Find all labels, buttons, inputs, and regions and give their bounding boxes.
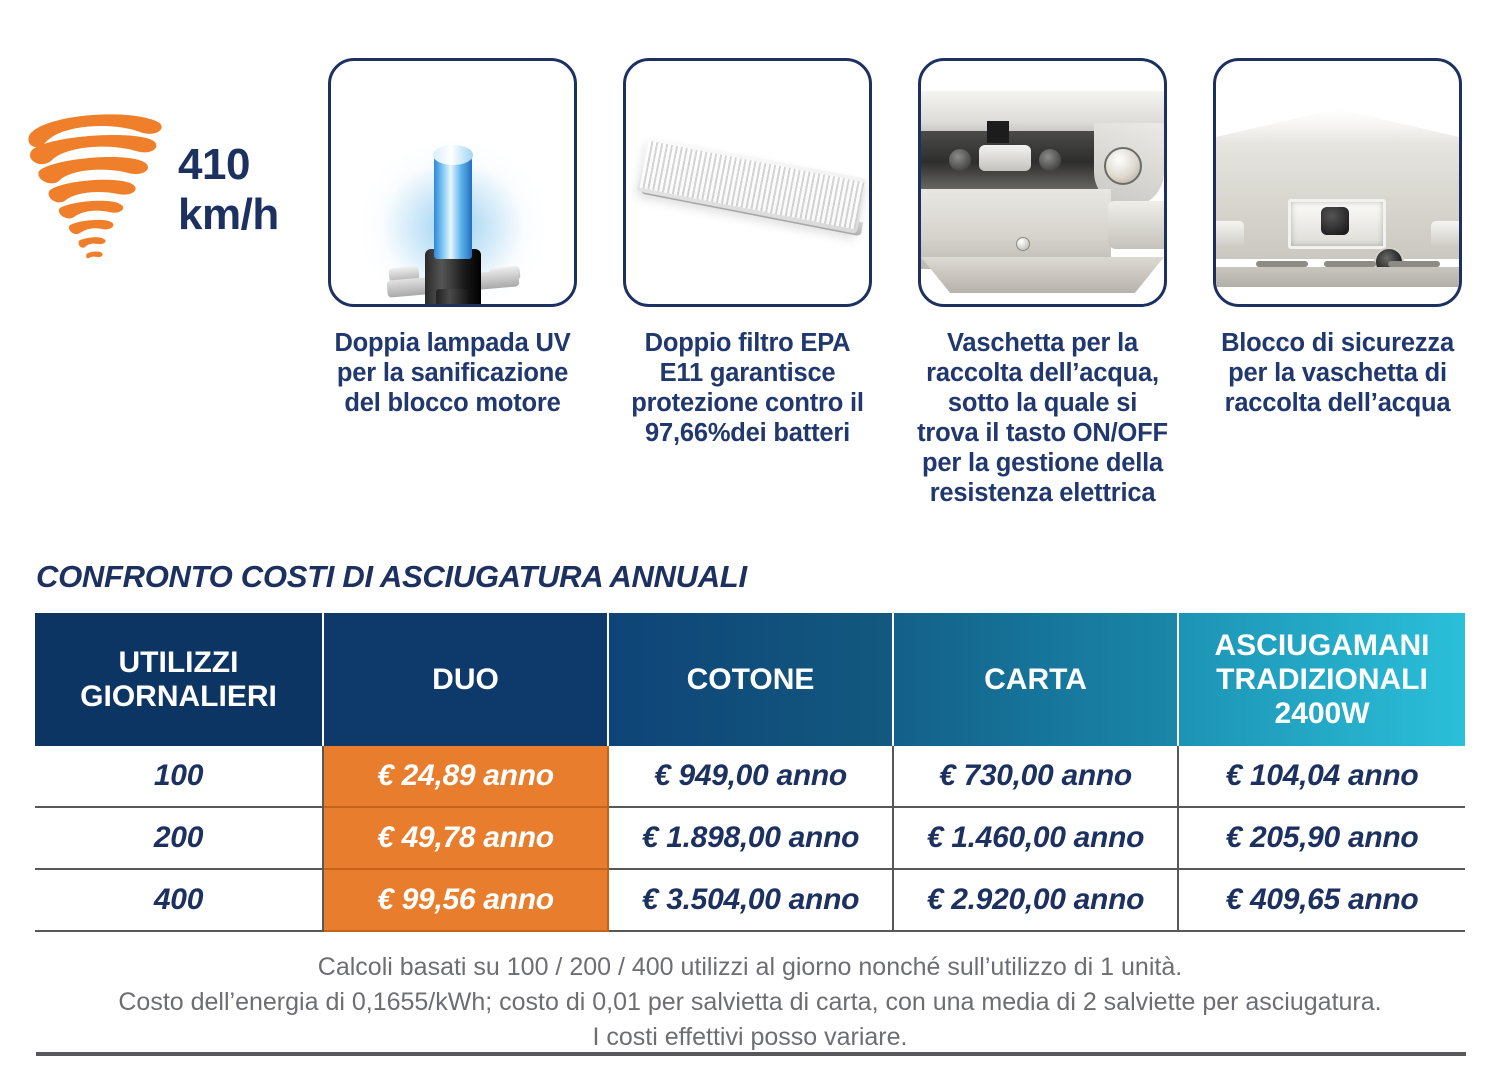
caption-line: resistenza elettrica: [930, 479, 1156, 507]
tornado-icon: [18, 108, 168, 260]
machine-shell-highlight: [1216, 109, 1459, 143]
table-title: CONFRONTO COSTI DI ASCIUGATURA ANNUALI: [36, 559, 747, 595]
machine-bottom-shell: [921, 257, 1164, 293]
uv-lamp-base-lower: [436, 289, 470, 307]
bottom-divider: [36, 1052, 1466, 1056]
column-header-duo: DUO: [323, 613, 608, 746]
footnote-line: I costi effettivi posso variare.: [35, 1020, 1465, 1055]
header-line: DUO: [432, 663, 499, 696]
cell-cotone-cost: € 1.898,00 anno: [608, 807, 893, 869]
cell-duo-cost: € 24,89 anno: [323, 746, 608, 807]
table-footnote: Calcoli basati su 100 / 200 / 400 utiliz…: [35, 950, 1465, 1055]
filter-body: [637, 136, 868, 234]
header-line: TRADIZIONALI: [1216, 663, 1428, 696]
cell-cotone-cost: € 949,00 anno: [608, 746, 893, 807]
machine-bolt-right: [1039, 149, 1061, 171]
caption-line: raccolta dell’acqua,: [926, 359, 1159, 387]
tray-clip: [1016, 237, 1030, 251]
machine-slot-right: [1431, 221, 1461, 247]
feature-caption-water-tray: Vaschetta per la raccolta dell’acqua, so…: [908, 328, 1178, 508]
uv-lamp-photo: [328, 58, 577, 307]
feature-card-list: Doppia lampada UV per la sanificazione d…: [305, 58, 1485, 508]
column-header-carta: CARTA: [893, 613, 1178, 746]
table-row: 200 € 49,78 anno € 1.898,00 anno € 1.460…: [35, 807, 1465, 869]
footnote-line: Costo dell’energia di 0,1655/kWh; costo …: [35, 985, 1465, 1020]
filter-pleats: [639, 140, 864, 229]
column-header-asciugamani-tradizionali: ASCIUGAMANI TRADIZIONALI 2400W: [1178, 613, 1465, 746]
cell-tradizionali-cost: € 409,65 anno: [1178, 869, 1465, 931]
header-line: COTONE: [687, 663, 815, 696]
caption-line: per la sanificazione: [337, 359, 568, 387]
machine-right-tab: [1108, 201, 1164, 249]
table-header-row: UTILIZZI GIORNALIERI DUO COTONE CARTA AS…: [35, 613, 1465, 746]
caption-line: raccolta dell’acqua: [1225, 389, 1451, 417]
cell-carta-cost: € 1.460,00 anno: [893, 807, 1178, 869]
cost-comparison-table: UTILIZZI GIORNALIERI DUO COTONE CARTA AS…: [35, 613, 1465, 932]
cell-utilizzi: 100: [35, 746, 323, 807]
uv-lamp-tube-top: [433, 145, 473, 165]
machine-roller: [979, 145, 1031, 171]
caption-line: per la vaschetta di: [1228, 359, 1447, 387]
table-row: 400 € 99,56 anno € 3.504,00 anno € 2.920…: [35, 869, 1465, 931]
caption-line: Vaschetta per la: [947, 329, 1138, 357]
feature-card-safety-lock: Blocco di sicurezza per la vaschetta di …: [1190, 58, 1485, 508]
cell-cotone-cost: € 3.504,00 anno: [608, 869, 893, 931]
caption-line: del blocco motore: [344, 389, 560, 417]
caption-line: 97,66%dei batteri: [645, 419, 850, 447]
caption-line: protezione contro il: [631, 389, 864, 417]
machine-slot-left: [1214, 221, 1244, 247]
feature-card-water-tray: Vaschetta per la raccolta dell’acqua, so…: [895, 58, 1190, 508]
header-line: 2400W: [1274, 697, 1369, 730]
machine-knob: [1104, 147, 1142, 185]
footnote-line: Calcoli basati su 100 / 200 / 400 utiliz…: [35, 950, 1465, 985]
cell-duo-cost: € 49,78 anno: [323, 807, 608, 869]
caption-line: trova il tasto ON/OFF: [917, 419, 1168, 447]
speed-value-group: 410 km/h: [178, 140, 298, 240]
water-tray-photo: [918, 58, 1167, 307]
caption-line: per la gestione della: [922, 449, 1163, 477]
machine-bolt-left: [949, 149, 971, 171]
header-line: CARTA: [984, 663, 1087, 696]
header-line: GIORNALIERI: [80, 680, 277, 713]
lock-icon: [1321, 207, 1349, 235]
caption-line: Blocco di sicurezza: [1221, 329, 1454, 357]
cell-tradizionali-cost: € 205,90 anno: [1178, 807, 1465, 869]
caption-line: Doppia lampada UV: [334, 329, 570, 357]
feature-caption-epa-filter: Doppio filtro EPA E11 garantisce protezi…: [613, 328, 883, 448]
cell-utilizzi: 200: [35, 807, 323, 869]
cell-utilizzi: 400: [35, 869, 323, 931]
features-section: 410 km/h Doppia lampada UV per la sanifi…: [0, 0, 1500, 545]
caption-line: E11 garantisce: [660, 359, 836, 387]
caption-line: sotto la quale si: [948, 389, 1137, 417]
machine-base: [1216, 267, 1459, 287]
column-header-utilizzi: UTILIZZI GIORNALIERI: [35, 613, 323, 746]
speed-unit: km/h: [178, 190, 298, 240]
caption-line: Doppio filtro EPA: [645, 329, 851, 357]
feature-caption-uv-lamp: Doppia lampada UV per la sanificazione d…: [318, 328, 588, 418]
header-line: ASCIUGAMANI: [1215, 629, 1430, 662]
table-row: 100 € 24,89 anno € 949,00 anno € 730,00 …: [35, 746, 1465, 807]
feature-caption-safety-lock: Blocco di sicurezza per la vaschetta di …: [1203, 328, 1473, 418]
speed-badge: 410 km/h: [18, 108, 288, 268]
column-header-cotone: COTONE: [608, 613, 893, 746]
speed-value: 410: [178, 140, 298, 190]
feature-card-uv-lamp: Doppia lampada UV per la sanificazione d…: [305, 58, 600, 508]
cell-duo-cost: € 99,56 anno: [323, 869, 608, 931]
cell-carta-cost: € 2.920,00 anno: [893, 869, 1178, 931]
header-line: UTILIZZI: [119, 646, 239, 679]
cell-carta-cost: € 730,00 anno: [893, 746, 1178, 807]
epa-filter-photo: [623, 58, 872, 307]
safety-lock-photo: [1213, 58, 1462, 307]
feature-card-epa-filter: Doppio filtro EPA E11 garantisce protezi…: [600, 58, 895, 508]
uv-lamp-tube: [434, 149, 472, 259]
machine-dark-component: [987, 121, 1009, 143]
cell-tradizionali-cost: € 104,04 anno: [1178, 746, 1465, 807]
